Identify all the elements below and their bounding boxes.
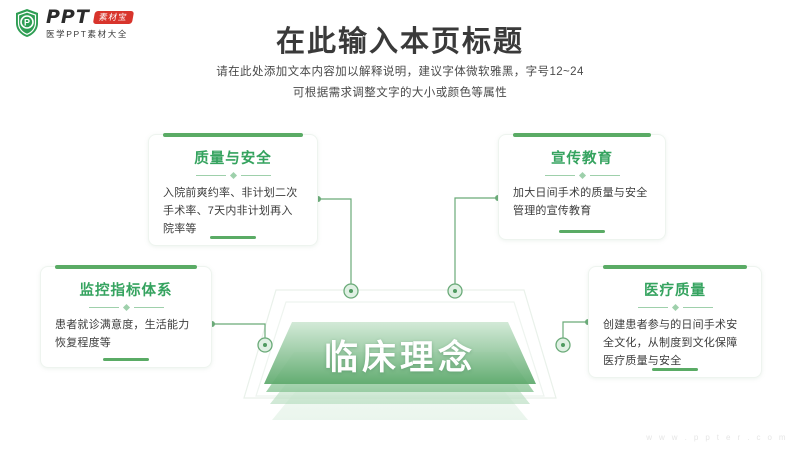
divider-line-left bbox=[196, 175, 226, 177]
divider-diamond-icon bbox=[229, 172, 236, 179]
card-title: 监控指标体系 bbox=[55, 279, 197, 300]
card-footer-bar bbox=[559, 230, 605, 233]
divider-diamond-icon bbox=[122, 304, 129, 311]
card-divider bbox=[603, 305, 747, 310]
divider-line-right bbox=[134, 307, 164, 309]
subtitle-line-2: 可根据需求调整文字的大小或颜色等属性 bbox=[0, 83, 800, 104]
card-title: 医疗质量 bbox=[603, 279, 747, 300]
divider-line-left bbox=[545, 175, 575, 177]
card-body: 患者就诊满意度，生活能力恢复程度等 bbox=[55, 317, 197, 353]
card-divider bbox=[163, 173, 303, 178]
card-body: 入院前爽约率、非计划二次手术率、7天内非计划再入院率等 bbox=[163, 185, 303, 238]
card-footer-bar bbox=[103, 358, 149, 361]
card-title: 宣传教育 bbox=[513, 147, 651, 168]
divider-line-left bbox=[638, 307, 668, 309]
divider-diamond-icon bbox=[671, 304, 678, 311]
card-medical[interactable]: 医疗质量 创建患者参与的日间手术安全文化，从制度到文化保障医疗质量与安全 bbox=[588, 266, 762, 378]
card-footer-bar bbox=[210, 236, 256, 239]
card-monitor[interactable]: 监控指标体系 患者就诊满意度，生活能力恢复程度等 bbox=[40, 266, 212, 368]
divider-line-right bbox=[590, 175, 620, 177]
card-publicity[interactable]: 宣传教育 加大日间手术的质量与安全管理的宣传教育 bbox=[498, 134, 666, 240]
card-title: 质量与安全 bbox=[163, 147, 303, 168]
slide-canvas: P PPT 素材宝 医学PPT素材大全 在此输入本页标题 请在此处添加文本内容加… bbox=[0, 0, 800, 450]
card-body: 加大日间手术的质量与安全管理的宣传教育 bbox=[513, 185, 651, 221]
site-watermark: w w w . p p t e r . c o m bbox=[646, 433, 788, 442]
divider-diamond-icon bbox=[578, 172, 585, 179]
card-footer-bar bbox=[652, 368, 698, 371]
page-subtitle: 请在此处添加文本内容加以解释说明，建议字体微软雅黑，字号12~24 可根据需求调… bbox=[0, 62, 800, 105]
divider-line-left bbox=[89, 307, 119, 309]
card-quality[interactable]: 质量与安全 入院前爽约率、非计划二次手术率、7天内非计划再入院率等 bbox=[148, 134, 318, 246]
card-body: 创建患者参与的日间手术安全文化，从制度到文化保障医疗质量与安全 bbox=[603, 317, 747, 370]
subtitle-line-1: 请在此处添加文本内容加以解释说明，建议字体微软雅黑，字号12~24 bbox=[0, 62, 800, 83]
card-divider bbox=[513, 173, 651, 178]
card-divider bbox=[55, 305, 197, 310]
divider-line-right bbox=[241, 175, 271, 177]
divider-line-right bbox=[683, 307, 713, 309]
page-title: 在此输入本页标题 bbox=[0, 18, 800, 60]
